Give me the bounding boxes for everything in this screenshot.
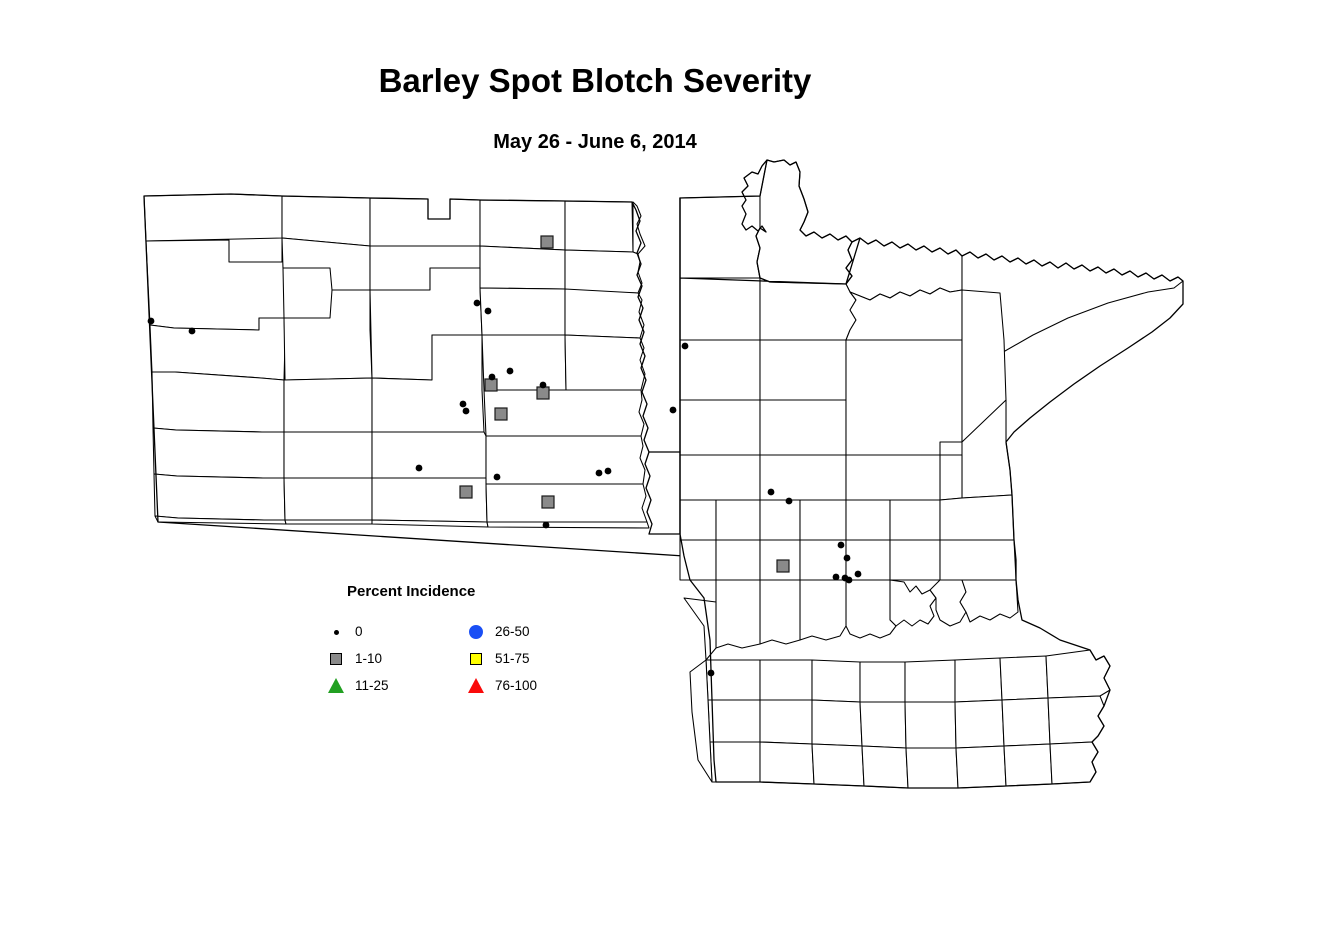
legend-label: 76-100 [495, 678, 537, 693]
legend-title: Percent Incidence [347, 583, 475, 600]
map-point-dot [489, 374, 496, 381]
legend-label: 51-75 [495, 651, 530, 666]
legend-square-icon [325, 648, 351, 670]
map-point-square [777, 560, 789, 572]
minnesota-counties [680, 160, 1183, 788]
legend-label: 11-25 [355, 678, 389, 693]
map-point-dot [605, 468, 612, 475]
map-point-square [542, 496, 554, 508]
map-point-dot [416, 465, 423, 472]
map-canvas [0, 0, 1341, 926]
legend-label: 0 [355, 624, 363, 639]
map-point-dot [844, 555, 851, 562]
legend: Percent Incidence 01-1011-2526-5051-7576… [325, 583, 575, 708]
legend-dot-icon [325, 621, 351, 643]
legend-symbol-shape [330, 653, 342, 665]
map-point-dot [485, 308, 492, 315]
legend-label: 1-10 [355, 651, 382, 666]
legend-triangle-icon [465, 675, 491, 697]
map-point-dot [148, 318, 155, 325]
map-point-square [537, 387, 549, 399]
map-point-dot [543, 522, 550, 529]
map-point-dot [596, 470, 603, 477]
map-point-dot [768, 489, 775, 496]
map-point-dot [855, 571, 862, 578]
map-point-square [460, 486, 472, 498]
legend-triangle-icon [325, 675, 351, 697]
map-point-square [485, 379, 497, 391]
map-point-dot [460, 401, 467, 408]
map-point-dot [708, 670, 715, 677]
legend-symbol-shape [469, 625, 483, 639]
legend-symbol-shape [468, 678, 484, 693]
map-point-dot [833, 574, 840, 581]
legend-symbol-shape [470, 653, 482, 665]
map-point-dot [507, 368, 514, 375]
map-point-square [495, 408, 507, 420]
map-point-dot [474, 300, 481, 307]
north-dakota-counties [144, 194, 649, 528]
map-figure: Barley Spot Blotch Severity May 26 - Jun… [0, 0, 1341, 926]
map-point-dot [670, 407, 677, 414]
map-point-dot [846, 577, 853, 584]
map-point-dot [540, 382, 547, 389]
legend-symbol-shape [328, 678, 344, 693]
legend-label: 26-50 [495, 624, 530, 639]
map-point-square [541, 236, 553, 248]
map-point-dot [463, 408, 470, 415]
map-point-dot [189, 328, 196, 335]
map-point-dot [494, 474, 501, 481]
map-point-dot [838, 542, 845, 549]
legend-circle-icon [465, 621, 491, 643]
legend-symbol-shape [334, 630, 339, 635]
legend-square-icon [465, 648, 491, 670]
map-point-dot [786, 498, 793, 505]
map-point-dot [682, 343, 689, 350]
